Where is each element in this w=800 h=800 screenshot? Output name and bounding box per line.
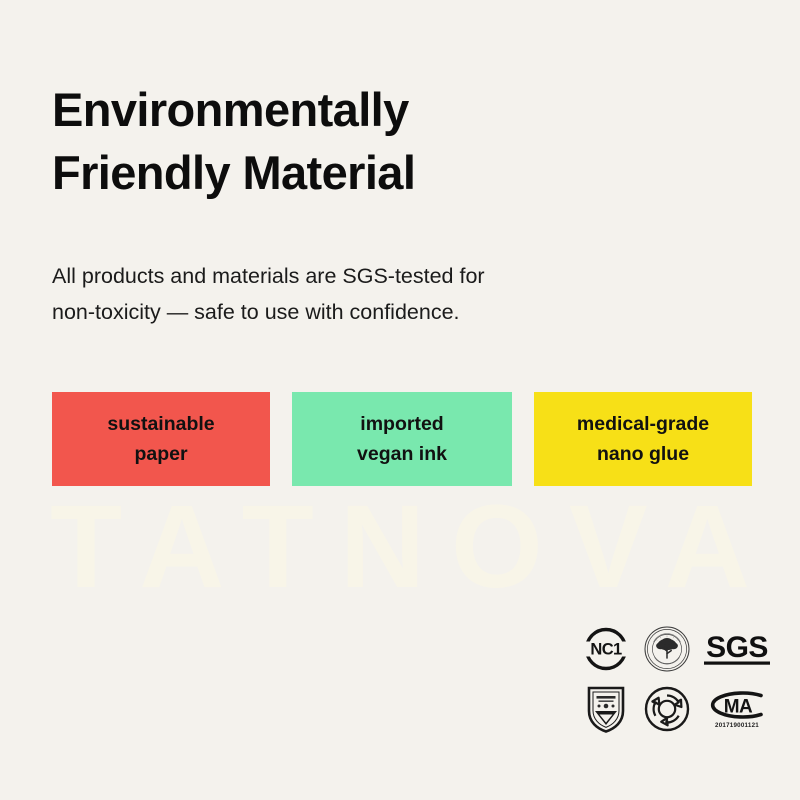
material-tag-line-1: sustainable — [107, 409, 214, 439]
tree-seal-certification-icon — [636, 622, 698, 676]
material-tag-line-1: imported — [360, 409, 443, 439]
description-text: All products and materials are SGS-teste… — [52, 258, 652, 332]
cma-certificate-number: 201719001121 — [715, 722, 759, 729]
material-tag-sustainable-paper: sustainable paper — [52, 392, 270, 486]
description-line-2: non-toxicity — safe to use with confiden… — [52, 294, 652, 331]
material-tag-imported-vegan-ink: imported vegan ink — [292, 392, 512, 486]
svg-text:NC1: NC1 — [590, 641, 622, 659]
material-tag-group: sustainable paper imported vegan ink med… — [52, 392, 752, 486]
material-tag-line-1: medical-grade — [577, 409, 709, 439]
nc1-certification-icon: NC1 — [576, 622, 636, 676]
material-tag-line-2: vegan ink — [357, 439, 447, 469]
cma-certification-icon: MA 201719001121 — [698, 682, 776, 736]
page-title-line-1: Environmentally — [52, 79, 692, 141]
certification-badge-group: NC1 — [576, 622, 776, 742]
material-tag-medical-grade-nano-glue: medical-grade nano glue — [534, 392, 752, 486]
page-title: Environmentally Friendly Material — [52, 79, 692, 203]
brand-watermark: TATNOVA — [0, 488, 800, 606]
sgs-certification-icon: SGS — [698, 622, 776, 676]
certification-badge-row-top: NC1 — [576, 622, 776, 676]
certification-badge-row-bottom: MA 201719001121 — [576, 682, 776, 736]
description-line-1: All products and materials are SGS-teste… — [52, 258, 652, 295]
sgs-logo-text: SGS — [706, 631, 768, 664]
page-title-line-2: Friendly Material — [52, 142, 692, 204]
poster-canvas: TATNOVA Environmentally Friendly Materia… — [0, 0, 800, 800]
material-tag-line-2: paper — [134, 439, 187, 469]
material-tag-line-2: nano glue — [597, 439, 689, 469]
cma-logo-text: MA — [724, 697, 753, 718]
shield-certification-icon — [576, 682, 636, 736]
recycle-certification-icon — [636, 682, 698, 736]
